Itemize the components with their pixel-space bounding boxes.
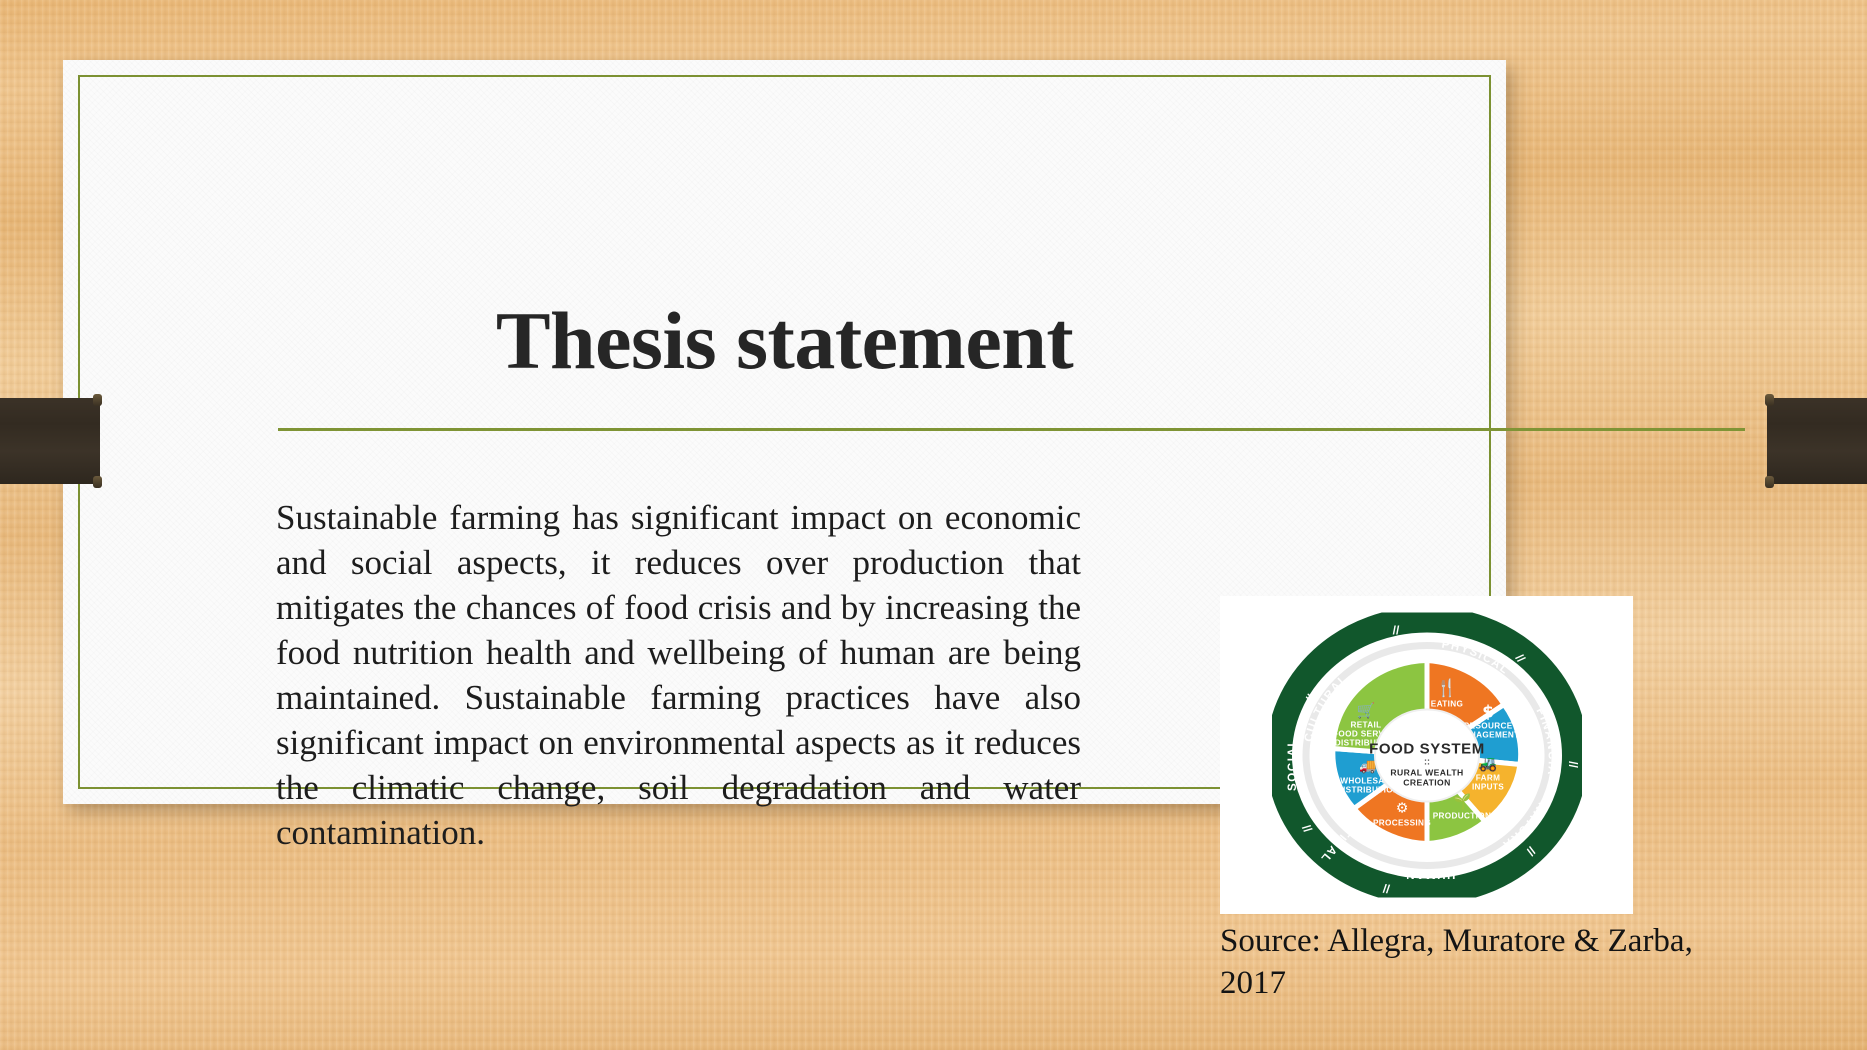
machinery-icon: ⚙ — [1395, 801, 1408, 817]
page-title: Thesis statement — [63, 300, 1506, 382]
wheel-diagram: CULTURAL PHYSICAL FINANCIAL NATURAL HUMA… — [1272, 613, 1582, 898]
segment-eating-label: EATING — [1430, 700, 1462, 709]
ring-tick-3: // — [1566, 761, 1580, 768]
basket-icon: 🛒 — [1356, 702, 1375, 720]
left-clip-stud-top — [93, 394, 102, 406]
core-divider: :: — [1424, 757, 1430, 767]
wheel-svg: CULTURAL PHYSICAL FINANCIAL NATURAL HUMA… — [1272, 613, 1582, 898]
ring-tick-1: // — [1392, 624, 1399, 638]
segment-processing-label: PROCESSING — [1372, 819, 1430, 828]
segment-retail-label-1: RETAIL — [1350, 721, 1381, 730]
segment-farm-inputs-label-2: INPUTS — [1471, 783, 1503, 792]
fork-knife-icon: 🍴 — [1436, 678, 1457, 699]
dollar-icon: $ — [1482, 703, 1494, 723]
right-clip-stud-top — [1765, 394, 1774, 406]
ring-label-social: SOCIAL — [1287, 738, 1299, 791]
title-divider-rule — [278, 428, 1745, 431]
truck-icon: 🚚 — [1359, 759, 1376, 775]
figure-block: CULTURAL PHYSICAL FINANCIAL NATURAL HUMA… — [1220, 596, 1640, 1004]
segment-production-label: PRODUCTION — [1432, 812, 1491, 821]
left-clip-stud-bottom — [93, 476, 102, 488]
right-clip-stud-bottom — [1765, 476, 1774, 488]
left-clip-band — [0, 398, 100, 484]
core-subtitle-line1: RURAL WEALTH — [1390, 768, 1463, 778]
thesis-body-text: Sustainable farming has significant impa… — [276, 495, 1081, 855]
core-subtitle-line2: CREATION — [1403, 778, 1450, 788]
figure-source-caption: Source: Allegra, Muratore & Zarba, 2017 — [1220, 920, 1750, 1004]
core-title: FOOD SYSTEM — [1369, 741, 1485, 758]
segment-farm-inputs-label-1: FARM — [1475, 774, 1500, 783]
slide-card: Thesis statement Sustainable farming has… — [63, 60, 1506, 804]
slide-content: Thesis statement Sustainable farming has… — [63, 60, 1506, 804]
ring-label-human: HUMAN — [1404, 868, 1455, 880]
right-clip-band — [1767, 398, 1867, 484]
food-system-wheel-image: CULTURAL PHYSICAL FINANCIAL NATURAL HUMA… — [1220, 596, 1633, 914]
